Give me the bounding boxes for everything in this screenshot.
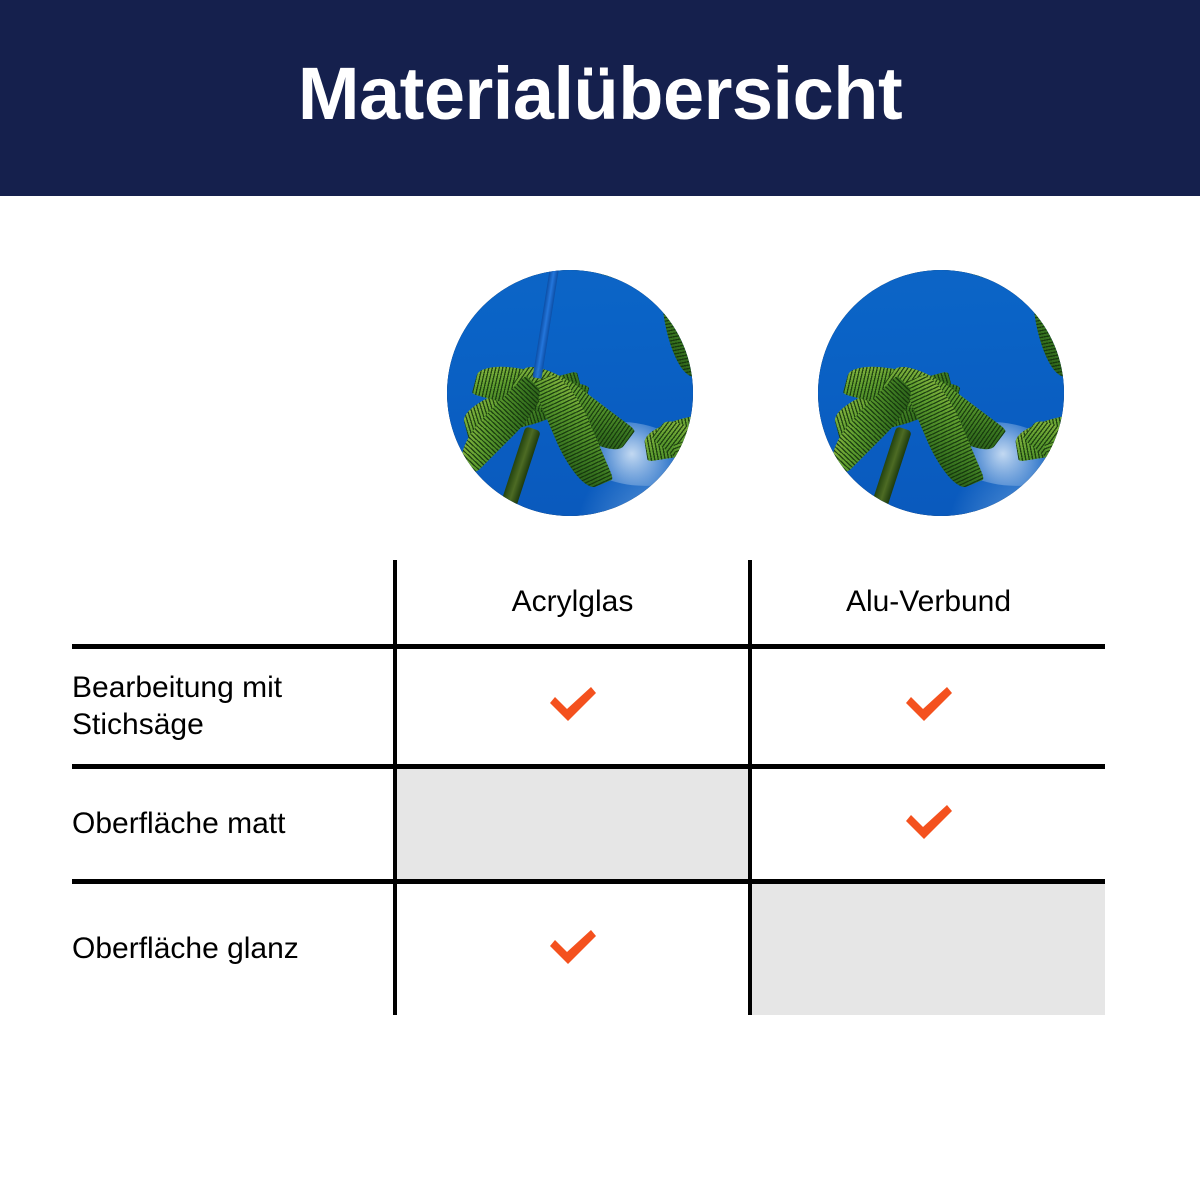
acrylglas-product-thumbnail xyxy=(447,270,693,516)
table-header-row: Acrylglas Alu-Verbund xyxy=(72,560,1105,647)
page-title: Materialübersicht xyxy=(0,44,1200,144)
table-row: Bearbeitung mit Stichsäge xyxy=(72,647,1105,767)
row-label-oberflaeche-matt: Oberfläche matt xyxy=(72,767,395,882)
check-icon xyxy=(546,926,600,968)
check-icon xyxy=(902,801,956,843)
header-cell-blank xyxy=(72,560,395,647)
header-banner: Materialübersicht xyxy=(0,0,1200,196)
row-label-bearbeitung: Bearbeitung mit Stichsäge xyxy=(72,647,395,767)
acrylglas-thumbnail-art xyxy=(447,270,693,516)
acrylglas-panel xyxy=(447,270,693,516)
table-row: Oberfläche matt xyxy=(72,767,1105,882)
comparison-table-element: Acrylglas Alu-Verbund Bearbeitung mit St… xyxy=(72,560,1105,1015)
table-body: Bearbeitung mit Stichsäge xyxy=(72,647,1105,1015)
cell-oberflaeche-matt-acrylglas xyxy=(395,767,750,882)
alu-verbund-thumbnail-art xyxy=(818,270,1064,516)
header-cell-alu-verbund: Alu-Verbund xyxy=(750,560,1105,647)
panel-print-surface xyxy=(447,270,693,516)
alu-verbund-product-thumbnail xyxy=(818,270,1064,516)
row-label-line: Bearbeitung mit xyxy=(72,671,282,704)
material-comparison-table: Acrylglas Alu-Verbund Bearbeitung mit St… xyxy=(72,560,1105,1012)
cell-oberflaeche-glanz-alu-verbund xyxy=(750,882,1105,1015)
cell-bearbeitung-alu-verbund xyxy=(750,647,1105,767)
cell-oberflaeche-matt-alu-verbund xyxy=(750,767,1105,882)
acrylglas-panel-face xyxy=(447,270,693,516)
header-cell-acrylglas: Acrylglas xyxy=(395,560,750,647)
cell-oberflaeche-glanz-acrylglas xyxy=(395,882,750,1015)
table-row: Oberfläche glanz xyxy=(72,882,1105,1015)
alu-verbund-panel xyxy=(818,270,1064,516)
check-icon xyxy=(546,683,600,725)
row-label-line: Stichsäge xyxy=(72,708,204,741)
row-label-oberflaeche-glanz: Oberfläche glanz xyxy=(72,882,395,1015)
table-header: Acrylglas Alu-Verbund xyxy=(72,560,1105,647)
alu-verbund-panel-face xyxy=(818,270,1064,516)
cell-bearbeitung-acrylglas xyxy=(395,647,750,767)
check-icon xyxy=(902,683,956,725)
panel-print-surface xyxy=(818,270,1064,516)
